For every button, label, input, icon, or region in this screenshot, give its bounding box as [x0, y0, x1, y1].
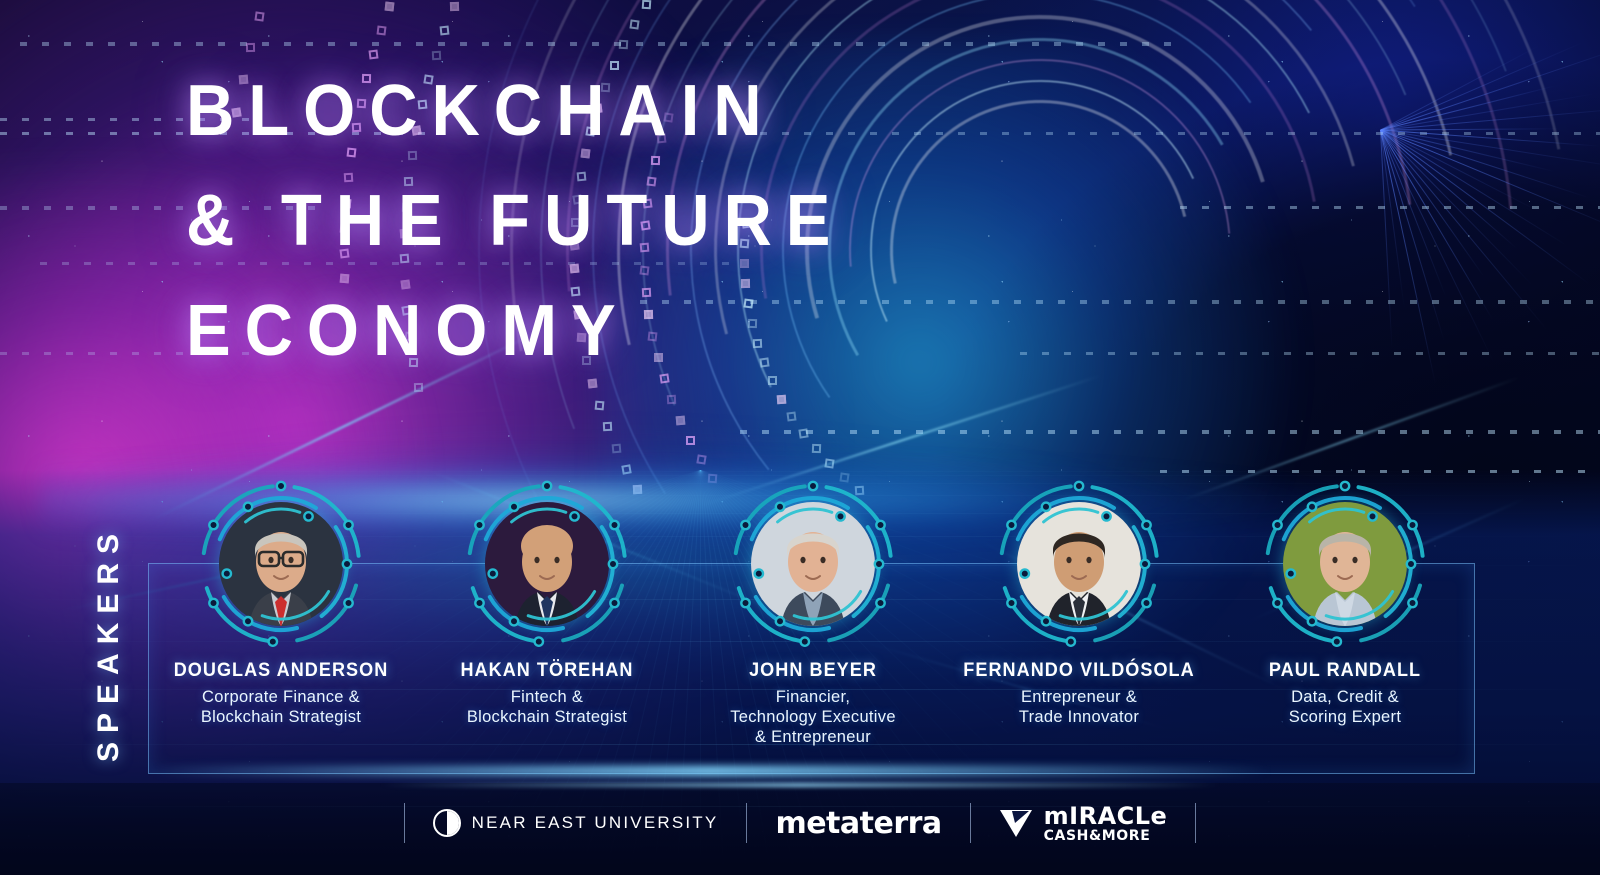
sponsor-logos: NEAR EAST UNIVERSITY metaterra mIRACLe C…: [0, 788, 1600, 858]
half-moon-circle-icon: [433, 809, 461, 837]
speaker-portrait-wrapper: [1259, 478, 1431, 650]
miracle-primary-label: mIRACLe: [1044, 804, 1168, 828]
speaker-role-line: Fintech &: [414, 687, 680, 707]
speaker-card[interactable]: HAKAN TÖREHANFintech &Blockchain Strateg…: [414, 478, 680, 727]
logo-divider: [970, 803, 971, 843]
speaker-role: Data, Credit &Scoring Expert: [1212, 687, 1478, 727]
speakers-row: DOUGLAS ANDERSONCorporate Finance &Block…: [148, 478, 1478, 778]
speaker-card[interactable]: PAUL RANDALLData, Credit &Scoring Expert: [1212, 478, 1478, 727]
speaker-name: PAUL RANDALL: [1219, 660, 1472, 682]
footer-top-glow: [380, 783, 1220, 787]
speaker-role-line: Scoring Expert: [1212, 707, 1478, 727]
speaker-card[interactable]: FERNANDO VILDÓSOLAEntrepreneur &Trade In…: [946, 478, 1212, 727]
logo-divider: [1195, 803, 1196, 843]
title-line-1: BLOCKCHAIN: [186, 56, 837, 166]
speaker-portrait-wrapper: [993, 478, 1165, 650]
logo-metaterra[interactable]: metaterra: [775, 806, 941, 841]
speaker-role-line: & Entrepreneur: [680, 727, 946, 747]
speaker-card[interactable]: JOHN BEYERFinancier,Technology Executive…: [680, 478, 946, 747]
speaker-name: DOUGLAS ANDERSON: [155, 660, 408, 682]
speaker-role-line: Financier,: [680, 687, 946, 707]
speaker-role: Fintech &Blockchain Strategist: [414, 687, 680, 727]
speaker-card[interactable]: DOUGLAS ANDERSONCorporate Finance &Block…: [148, 478, 414, 727]
speaker-role: Financier,Technology Executive& Entrepre…: [680, 687, 946, 747]
speaker-role-line: Entrepreneur &: [946, 687, 1212, 707]
speaker-name: FERNANDO VILDÓSOLA: [953, 660, 1206, 682]
logo-near-east-university[interactable]: NEAR EAST UNIVERSITY: [433, 809, 719, 837]
speaker-name: HAKAN TÖREHAN: [421, 660, 674, 682]
speaker-role-line: Blockchain Strategist: [414, 707, 680, 727]
logo-miracle-cash-more[interactable]: mIRACLe CASH&MORE: [999, 804, 1168, 843]
speaker-portrait-wrapper: [461, 478, 633, 650]
speaker-role-line: Blockchain Strategist: [148, 707, 414, 727]
speaker-role-line: Technology Executive: [680, 707, 946, 727]
title-line-2: & THE FUTURE: [186, 166, 837, 276]
logo-divider: [404, 803, 405, 843]
speaker-role: Entrepreneur &Trade Innovator: [946, 687, 1212, 727]
speaker-role-line: Data, Credit &: [1212, 687, 1478, 707]
speaker-role-line: Corporate Finance &: [148, 687, 414, 707]
metaterra-wordmark: metaterra: [775, 806, 941, 841]
event-banner: BLOCKCHAIN & THE FUTURE ECONOMY SPEAKERS…: [0, 0, 1600, 875]
speaker-portrait-wrapper: [195, 478, 367, 650]
speakers-section-label: SPEAKERS: [92, 525, 126, 762]
page-title: BLOCKCHAIN & THE FUTURE ECONOMY: [186, 56, 837, 386]
near-east-university-label: NEAR EAST UNIVERSITY: [472, 813, 719, 833]
miracle-wordmark: mIRACLe CASH&MORE: [1044, 804, 1168, 843]
title-line-3: ECONOMY: [186, 276, 837, 386]
speaker-name: JOHN BEYER: [687, 660, 940, 682]
speaker-role-line: Trade Innovator: [946, 707, 1212, 727]
speaker-role: Corporate Finance &Blockchain Strategist: [148, 687, 414, 727]
v-chevron-icon: [999, 808, 1033, 838]
miracle-secondary-label: CASH&MORE: [1044, 829, 1168, 843]
logo-divider: [746, 803, 747, 843]
speaker-portrait-wrapper: [727, 478, 899, 650]
